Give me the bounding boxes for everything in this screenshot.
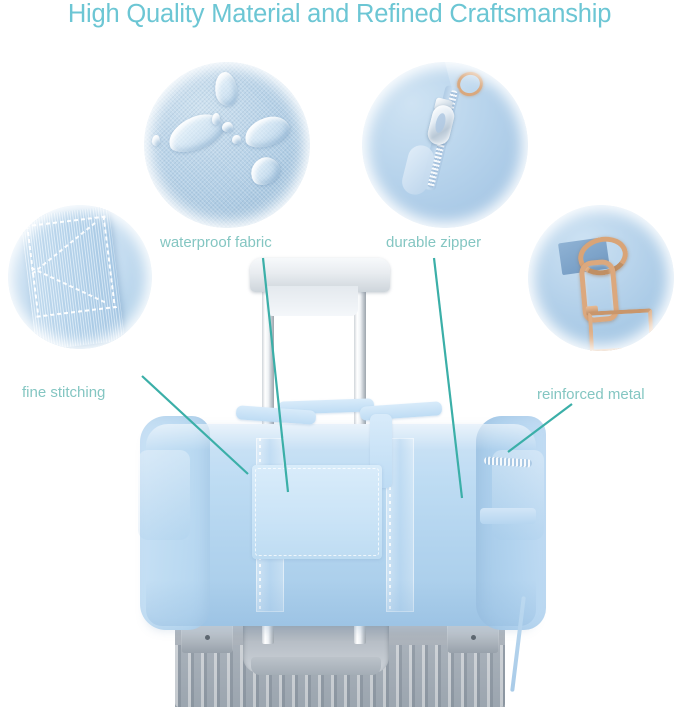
product-infographic: High Quality Material and Refined Crafts… bbox=[0, 0, 679, 707]
zipper-pull-icon bbox=[362, 62, 528, 228]
sleeve-stitching bbox=[255, 468, 379, 556]
callout-label-fine-stitching: fine stitching bbox=[22, 384, 105, 401]
d-ring-hardware bbox=[588, 308, 654, 351]
detail-circle-fine-stitching bbox=[8, 205, 152, 349]
trolley-handle-inner bbox=[266, 286, 358, 316]
corner-screw bbox=[205, 635, 210, 640]
fabric-strap bbox=[20, 206, 125, 349]
callout-label-reinforced-metal: reinforced metal bbox=[537, 386, 645, 403]
bag-bottom-shading bbox=[146, 580, 536, 626]
bag-top-seam bbox=[146, 424, 536, 450]
bag-side-pocket-left bbox=[138, 450, 190, 540]
water-droplet bbox=[222, 122, 233, 132]
bag-side-strap bbox=[480, 508, 536, 524]
page-title: High Quality Material and Refined Crafts… bbox=[0, 0, 679, 29]
stitch-cross bbox=[32, 221, 97, 274]
stitch-cross bbox=[32, 267, 107, 304]
bag-trolley-sleeve bbox=[252, 465, 382, 559]
silver-ribbed-suitcase bbox=[175, 617, 505, 707]
detail-circle-reinforced-metal bbox=[528, 205, 674, 351]
metal-carabiner-clip-icon bbox=[528, 205, 674, 351]
stitch-row bbox=[36, 306, 118, 318]
suitcase-handle-lip bbox=[251, 657, 381, 675]
detail-circle-durable-zipper bbox=[362, 62, 528, 228]
detail-circle-waterproof-fabric bbox=[144, 62, 310, 228]
water-droplet bbox=[232, 135, 241, 144]
callout-label-waterproof-fabric: waterproof fabric bbox=[160, 234, 272, 251]
callout-label-durable-zipper: durable zipper bbox=[386, 234, 481, 251]
corner-screw bbox=[471, 635, 476, 640]
stitched-strap-icon bbox=[8, 205, 152, 349]
stitch-column bbox=[103, 216, 116, 308]
water-droplets-on-fabric-icon bbox=[144, 62, 310, 228]
